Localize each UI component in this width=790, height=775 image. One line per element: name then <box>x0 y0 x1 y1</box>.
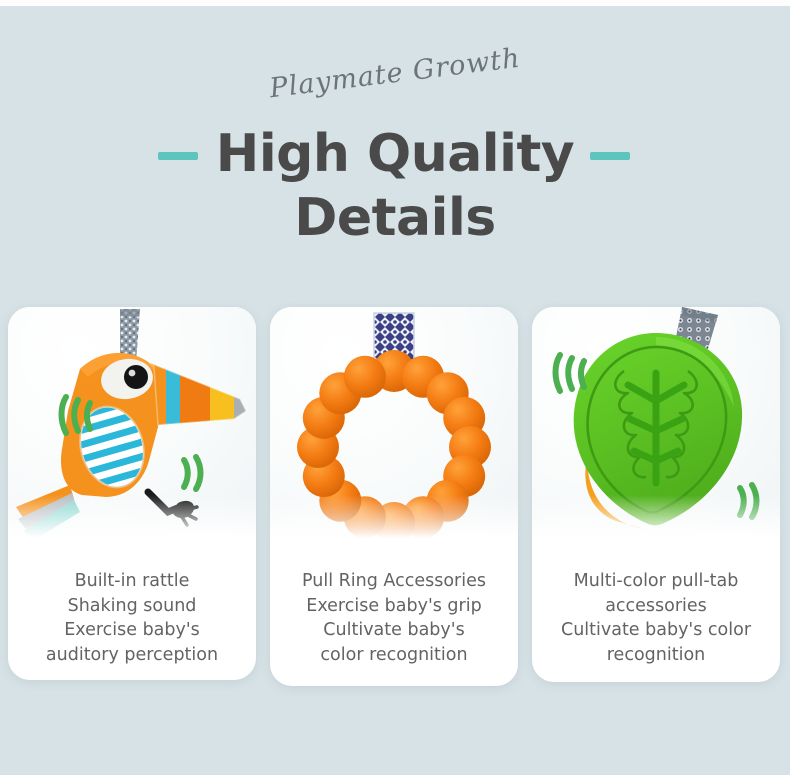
promo-page: Playmate Growth High Quality Details <box>0 0 790 775</box>
header-section: Playmate Growth High Quality Details <box>0 6 790 301</box>
page-title-line-1: High Quality <box>0 124 790 184</box>
card-caption: Multi-color pull-tab accessories Cultiva… <box>532 555 780 682</box>
green-leaf-pull-tab-photo <box>532 307 780 555</box>
photo-fade <box>8 495 256 555</box>
feature-card-row: Built-in rattle Shaking sound Exercise b… <box>0 307 790 692</box>
feature-card-pull-ring[interactable]: Pull Ring Accessories Exercise baby's gr… <box>270 307 518 686</box>
card-caption: Pull Ring Accessories Exercise baby's gr… <box>270 555 518 683</box>
photo-fade <box>270 495 518 555</box>
feature-card-rattle-bird[interactable]: Built-in rattle Shaking sound Exercise b… <box>8 307 256 680</box>
bird-beak <box>150 347 252 447</box>
page-title-line-2: Details <box>0 188 790 248</box>
script-tagline: Playmate Growth <box>1 10 789 137</box>
photo-fade <box>532 495 780 555</box>
toucan-plush-rattle-photo <box>8 307 256 555</box>
orange-bead-teether-ring-photo <box>270 307 518 555</box>
sound-wave-icon-right <box>184 457 201 489</box>
card-caption: Built-in rattle Shaking sound Exercise b… <box>8 555 256 680</box>
feature-card-leaf-pull-tab[interactable]: Multi-color pull-tab accessories Cultiva… <box>532 307 780 682</box>
sound-wave-icon-left <box>556 355 585 391</box>
